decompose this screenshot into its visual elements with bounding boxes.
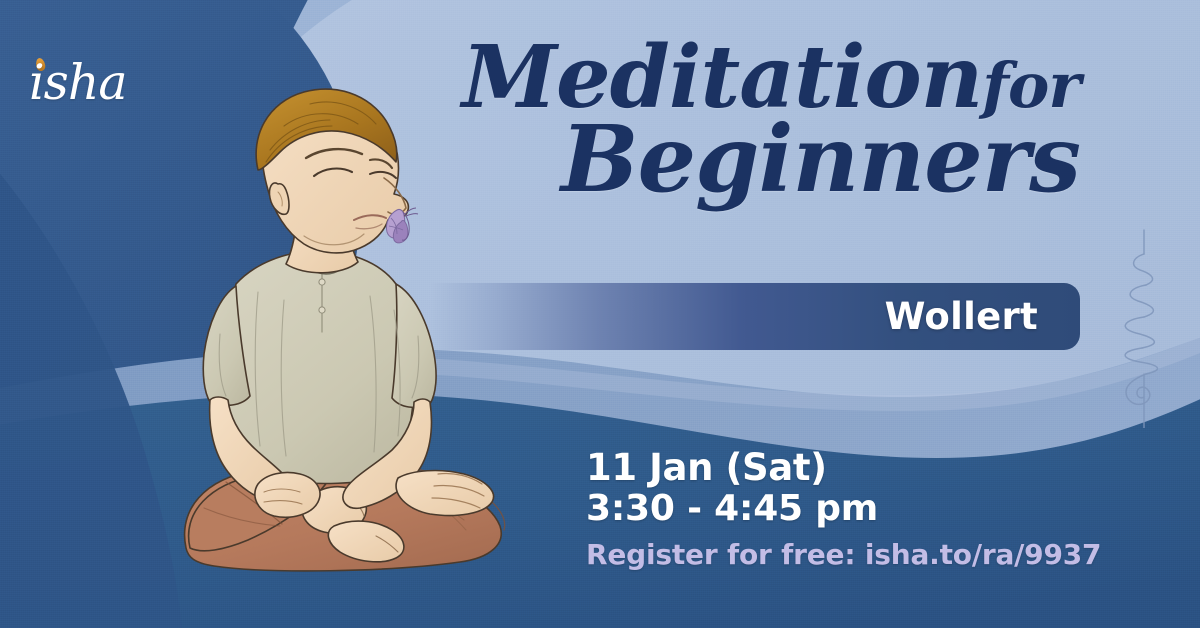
registration-link[interactable]: Register for free: isha.to/ra/9937 <box>586 537 1156 572</box>
event-date: 11 Jan (Sat) <box>586 447 1156 488</box>
title-line-2: Beginners <box>420 115 1080 204</box>
location-label: Wollert <box>885 295 1038 338</box>
location-badge: Wollert <box>430 283 1080 350</box>
isha-spiral-lamp-ornament <box>1096 228 1192 428</box>
event-poster: isha <box>0 0 1200 628</box>
page-title: Meditationfor Beginners <box>420 36 1080 205</box>
event-details: 11 Jan (Sat) 3:30 - 4:45 pm Register for… <box>586 447 1156 572</box>
event-time: 3:30 - 4:45 pm <box>586 488 1156 530</box>
butterfly-icon <box>375 196 431 252</box>
